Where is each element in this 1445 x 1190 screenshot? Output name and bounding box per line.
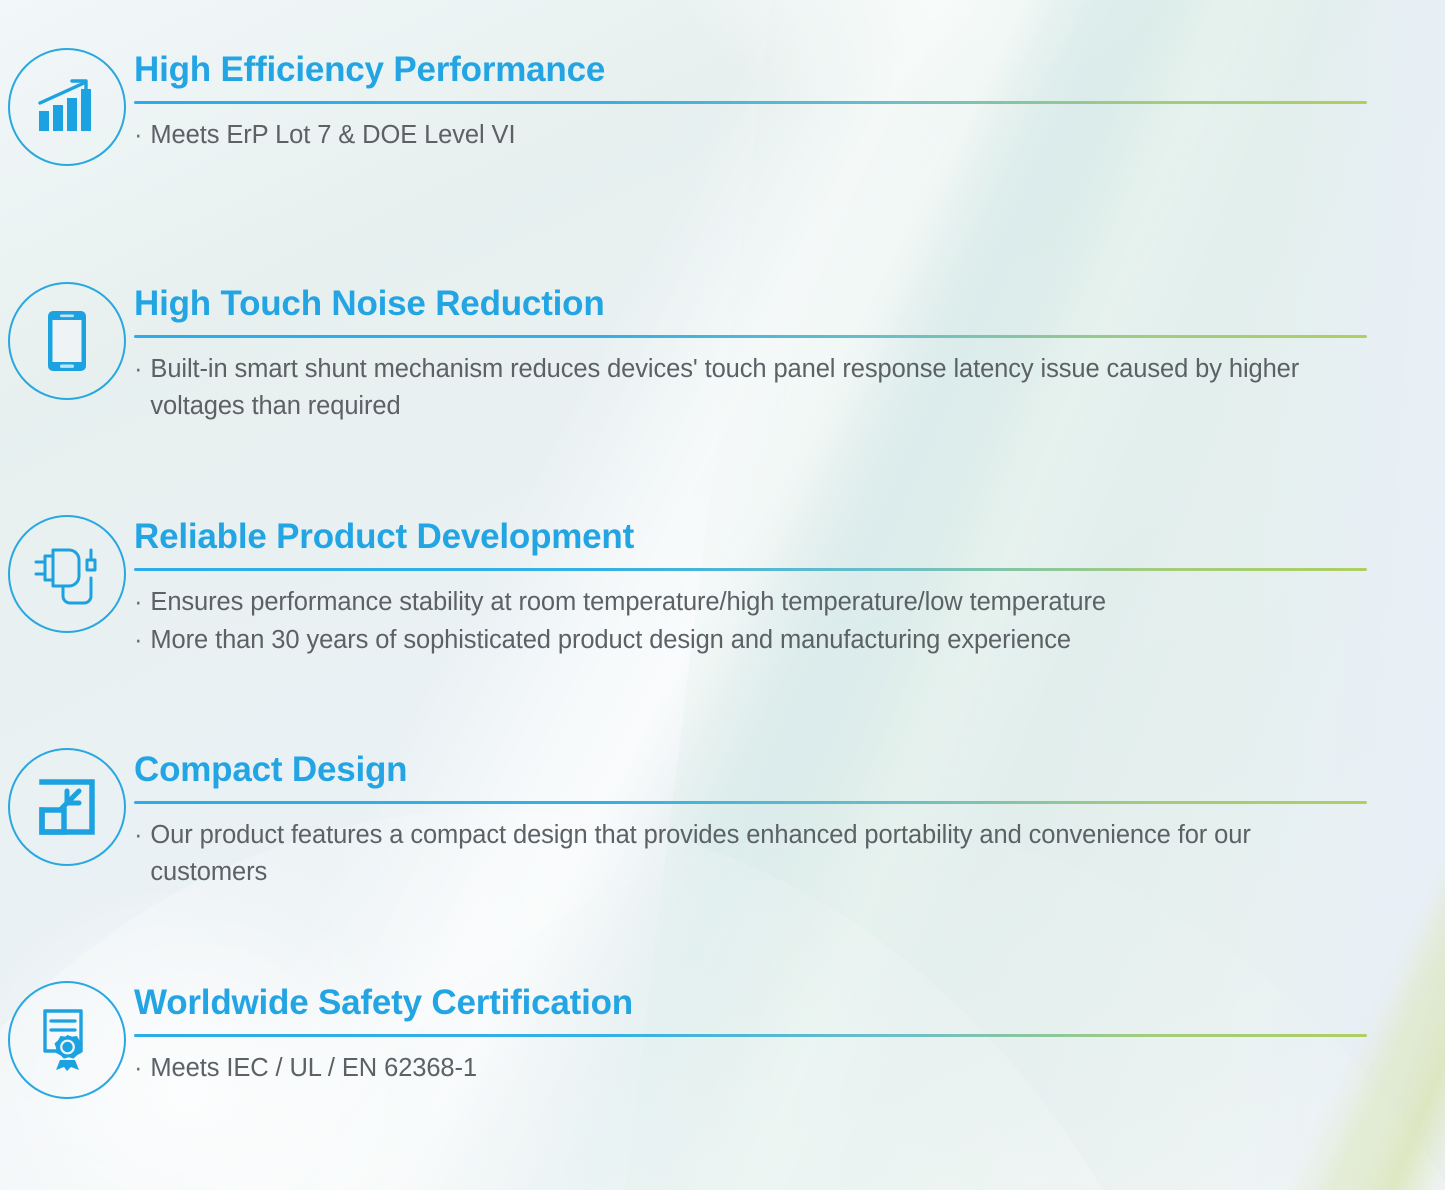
- bullet-dot-icon: ·: [134, 584, 142, 621]
- icon-circle: [8, 981, 126, 1099]
- feature-bullet-line: · Ensures performance stability at room …: [134, 584, 1367, 621]
- feature-body: High Efficiency Performance · Meets ErP …: [134, 48, 1445, 154]
- feature-lines: · Built-in smart shunt mechanism reduces…: [134, 351, 1367, 425]
- icon-circle: [8, 282, 126, 400]
- feature-line-text: Meets ErP Lot 7 & DOE Level VI: [150, 117, 1367, 154]
- feature-item-high-efficiency-performance: High Efficiency Performance · Meets ErP …: [0, 48, 1445, 166]
- feature-line-text: Meets IEC / UL / EN 62368-1: [150, 1050, 1367, 1087]
- compact-resize-icon: [36, 776, 98, 838]
- feature-title: Worldwide Safety Certification: [134, 983, 1367, 1024]
- feature-divider: [134, 1034, 1367, 1037]
- bullet-dot-icon: ·: [134, 1050, 142, 1087]
- feature-lines: · Meets IEC / UL / EN 62368-1: [134, 1050, 1367, 1087]
- feature-bullet-line: · Meets IEC / UL / EN 62368-1: [134, 1050, 1367, 1087]
- feature-body: Compact Design · Our product features a …: [134, 748, 1445, 891]
- feature-icon-wrap: [0, 748, 134, 866]
- feature-body: Worldwide Safety Certification · Meets I…: [134, 981, 1445, 1087]
- feature-item-compact-design: Compact Design · Our product features a …: [0, 748, 1445, 891]
- feature-divider: [134, 101, 1367, 104]
- bullet-dot-icon: ·: [134, 817, 142, 854]
- feature-bullet-line: · Built-in smart shunt mechanism reduces…: [134, 351, 1367, 425]
- feature-line-text: More than 30 years of sophisticated prod…: [150, 622, 1367, 659]
- feature-title: High Efficiency Performance: [134, 50, 1367, 91]
- feature-icon-wrap: [0, 981, 134, 1099]
- feature-line-text: Our product features a compact design th…: [150, 817, 1367, 891]
- icon-circle: [8, 515, 126, 633]
- bullet-dot-icon: ·: [134, 622, 142, 659]
- feature-title: Reliable Product Development: [134, 517, 1367, 558]
- power-adapter-icon: [31, 542, 103, 606]
- icon-circle: [8, 48, 126, 166]
- feature-lines: · Our product features a compact design …: [134, 817, 1367, 891]
- feature-bullet-line: · More than 30 years of sophisticated pr…: [134, 622, 1367, 659]
- feature-lines: · Meets ErP Lot 7 & DOE Level VI: [134, 117, 1367, 154]
- feature-bullet-line: · Meets ErP Lot 7 & DOE Level VI: [134, 117, 1367, 154]
- smartphone-icon: [46, 309, 88, 373]
- feature-body: Reliable Product Development · Ensures p…: [134, 515, 1445, 659]
- feature-item-reliable-product-development: Reliable Product Development · Ensures p…: [0, 515, 1445, 659]
- feature-lines: · Ensures performance stability at room …: [134, 584, 1367, 659]
- feature-item-high-touch-noise-reduction: High Touch Noise Reduction · Built-in sm…: [0, 282, 1445, 425]
- feature-icon-wrap: [0, 48, 134, 166]
- feature-line-text: Ensures performance stability at room te…: [150, 584, 1367, 621]
- bullet-dot-icon: ·: [134, 351, 142, 388]
- feature-line-text: Built-in smart shunt mechanism reduces d…: [150, 351, 1367, 425]
- feature-title: Compact Design: [134, 750, 1367, 791]
- feature-divider: [134, 568, 1367, 571]
- feature-item-worldwide-safety-certification: Worldwide Safety Certification · Meets I…: [0, 981, 1445, 1099]
- feature-divider: [134, 801, 1367, 804]
- feature-bullet-line: · Our product features a compact design …: [134, 817, 1367, 891]
- bullet-dot-icon: ·: [134, 117, 142, 154]
- feature-highlights-page: High Efficiency Performance · Meets ErP …: [0, 0, 1445, 1190]
- feature-title: High Touch Noise Reduction: [134, 284, 1367, 325]
- feature-divider: [134, 335, 1367, 338]
- bar-chart-growth-icon: [36, 78, 98, 136]
- certificate-award-icon: [36, 1007, 98, 1073]
- feature-icon-wrap: [0, 515, 134, 633]
- icon-circle: [8, 748, 126, 866]
- feature-body: High Touch Noise Reduction · Built-in sm…: [134, 282, 1445, 425]
- feature-icon-wrap: [0, 282, 134, 400]
